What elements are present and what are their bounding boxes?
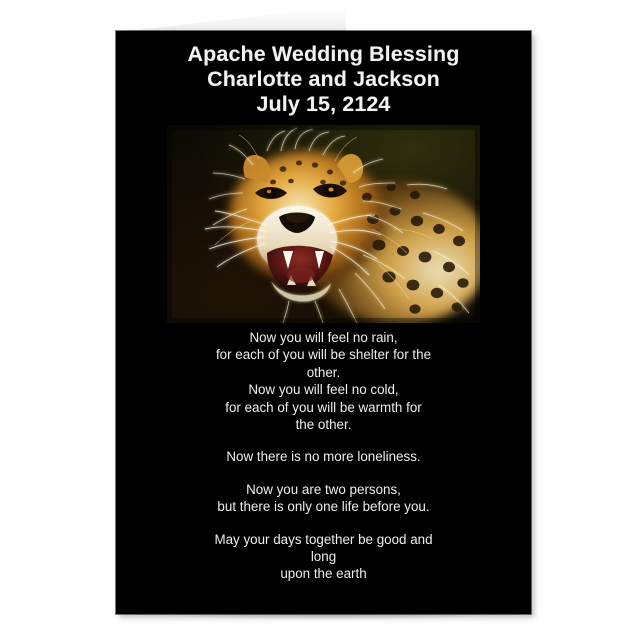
fractal-cheetah-image (167, 125, 480, 323)
poem-stanza: Now you will feel no rain, for each of y… (174, 329, 474, 434)
card-title-line: Apache Wedding Blessing (116, 42, 531, 67)
poem-line: Now you are two persons, (174, 481, 474, 498)
card-preview-stage: Apache Wedding Blessing Charlotte and Ja… (0, 0, 644, 644)
poem-stanza: Now you are two persons, but there is on… (174, 481, 474, 516)
poem-text: Now you will feel no rain, for each of y… (174, 329, 474, 583)
poem-line: long (174, 548, 474, 565)
poem-line: the other. (174, 416, 474, 433)
fractal-cheetah-artwork (167, 125, 480, 323)
poem-line: upon the earth (174, 565, 474, 582)
poem-line: but there is only one life before you. (174, 498, 474, 515)
poem-stanza: May your days together be good and long … (174, 531, 474, 583)
poem-stanza: Now there is no more loneliness. (174, 448, 474, 465)
poem-line: May your days together be good and (174, 531, 474, 548)
card-date-line: July 15, 2124 (116, 92, 531, 117)
poem-line: Now you will feel no rain, (174, 329, 474, 346)
card-heading: Apache Wedding Blessing Charlotte and Ja… (116, 42, 531, 117)
poem-line: other. (174, 364, 474, 381)
poem-line: for each of you will be warmth for (174, 399, 474, 416)
card-couple-names-line: Charlotte and Jackson (116, 67, 531, 92)
poem-line: Now there is no more loneliness. (174, 448, 474, 465)
poem-line: Now you will feel no cold, (174, 381, 474, 398)
poem-line: for each of you will be shelter for the (174, 346, 474, 363)
greeting-card-front[interactable]: Apache Wedding Blessing Charlotte and Ja… (116, 31, 531, 614)
